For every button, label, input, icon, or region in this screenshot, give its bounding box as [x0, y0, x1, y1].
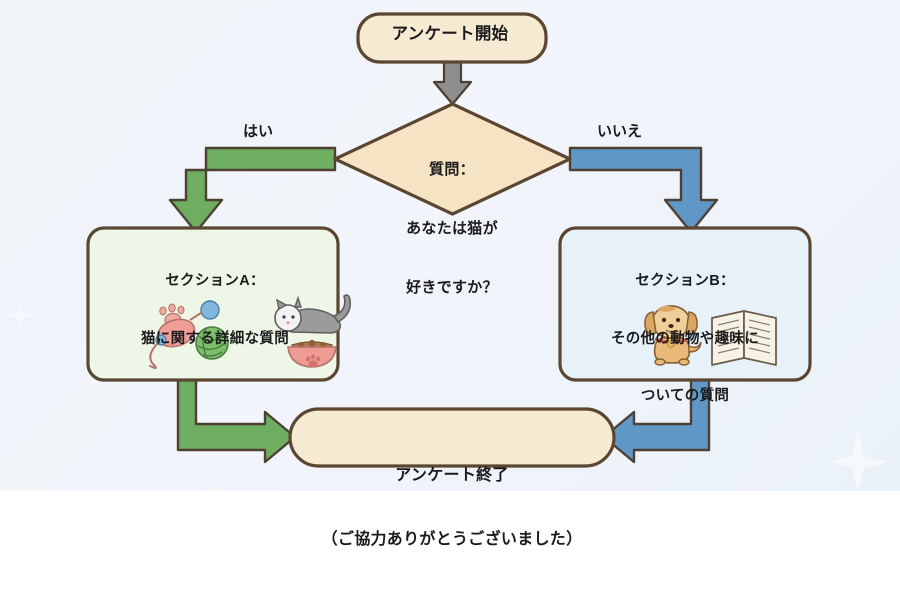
node-end[interactable]: [290, 409, 614, 466]
edge-section-a-to-end: [178, 380, 295, 462]
node-start[interactable]: [358, 14, 546, 62]
edge-no-to-section-b: [570, 148, 717, 232]
edge-section-b-to-end: [604, 380, 709, 462]
sparkle-icon: [830, 430, 888, 491]
edge-yes-to-section-a: [170, 148, 335, 232]
yarn-ball-icon: [196, 327, 228, 359]
flowchart-svg: [0, 0, 900, 491]
end-line-2: （ご協力ありがとうございました）: [292, 529, 612, 550]
flowchart-canvas: アンケート開始 質問： あなたは猫が 好きですか？ セクションA： 猫に関する詳…: [0, 0, 900, 491]
node-decision[interactable]: [335, 104, 570, 214]
open-book-icon: [712, 311, 776, 365]
edge-start-to-decision: [434, 60, 471, 104]
sparkle-icon-small: [5, 300, 35, 330]
